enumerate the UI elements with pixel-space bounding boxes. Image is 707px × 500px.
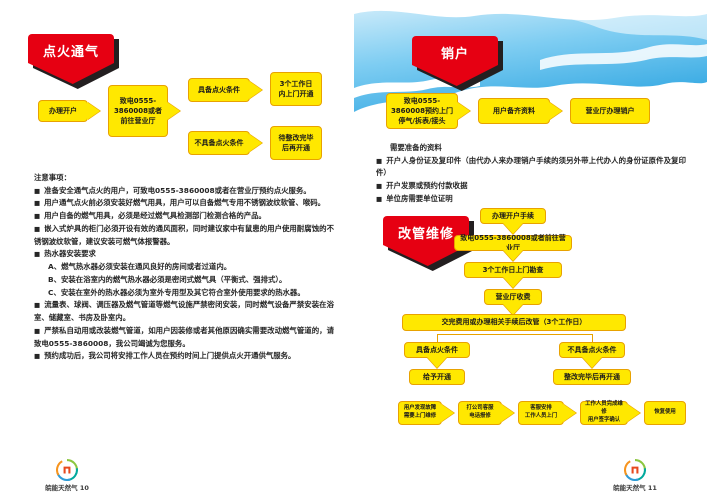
company-logo-icon (624, 459, 646, 481)
note-item: 准备安全通气点火的用户，可致电0555-3860008或者在营业厅预约点火服务。 (34, 185, 334, 198)
service-flow-step: 恢复使用 (644, 401, 686, 425)
flow-box-branch-no: 不具备点火条件 (188, 131, 250, 155)
note-item: 用户通气点火前必须安装好燃气用具，用户可以自备燃气专用不锈钢波纹软管、喉码。 (34, 197, 334, 210)
footer-caption-left: 皖能天然气 10 (45, 482, 89, 492)
material-item: 开户人身份证及复印件（由代办人来办理销户手续的须另外带上代办人的身份证原件及复印… (376, 155, 686, 180)
notes-title: 注意事项： (34, 172, 334, 185)
repair-flow-yes: 具备点火条件 (404, 342, 470, 358)
banner-cancel-label: 销户 (412, 43, 498, 62)
heater-item: C、安装在室外的热水器必须为室外专用型及其它符合室外使用要求的热水器。 (48, 287, 334, 300)
repair-flow-s1: 办理开户手续 (480, 208, 546, 224)
note-item: 嵌入式炉具的柜门必须开设有效的通风面积，同时建议家中有鼠患的用户使用耐腐蚀的不锈… (34, 223, 334, 248)
flow-connector-horizontal (437, 334, 593, 335)
footer-left: 皖能天然气 10 (32, 459, 102, 492)
note-item: 用户自备的燃气用具，必须是经过燃气具检测部门检测合格的产品。 (34, 210, 334, 223)
material-item: 开户发票或预约付款收据 (376, 180, 686, 193)
service-flow-step: 打公司客服 电话报修 (458, 401, 502, 425)
heater-item: B、安装在浴室内的燃气热水器必须是密闭式燃气具（平衡式、强排式）。 (48, 274, 334, 287)
repair-flow-s4: 营业厅收费 (484, 289, 542, 305)
flow-connector-right (592, 334, 593, 342)
flow-connector-left (437, 334, 438, 342)
cancel-flow-step2: 用户备齐资料 (478, 98, 550, 124)
repair-flow-no-result: 整改完毕后再开通 (553, 369, 631, 385)
company-logo-icon (56, 459, 78, 481)
banner-ignite-label: 点火通气 (28, 41, 114, 60)
materials-block: 需要准备的资料 开户人身份证及复印件（由代办人来办理销户手续的须另外带上代办人的… (376, 142, 686, 206)
repair-flow-no: 不具备点火条件 (559, 342, 625, 358)
banner-cancel: 销户 (412, 36, 498, 86)
brochure-spread: 点火通气 办理开户 致电0555- 3860008或者 前往营业厅 具备点火条件… (0, 0, 707, 500)
materials-title: 需要准备的资料 (390, 142, 686, 155)
flow-box-branch-yes-result: 3个工作日 内上门开通 (270, 72, 322, 106)
flow-box-branch-no-result: 待整改完毕 后再开通 (270, 126, 322, 160)
heater-item: A、燃气热水器必须安装在通风良好的房间或者过道内。 (48, 261, 334, 274)
service-flow-step: 用户发现故障 需要上门维修 (398, 401, 442, 425)
repair-flow-s2: 致电0555-3860008或者前往营业厅 (454, 235, 572, 251)
notes-block: 注意事项： 准备安全通气点火的用户，可致电0555-3860008或者在营业厅预… (34, 172, 334, 363)
banner-ignite: 点火通气 (28, 34, 114, 84)
footer-caption-right: 皖能天然气 11 (613, 482, 657, 492)
cancel-flow-step1: 致电0555- 3860008预约上门 停气/拆表/接头 (386, 93, 458, 129)
repair-flow-yes-result: 给予开通 (409, 369, 465, 385)
note-item: 预约成功后，我公司将安排工作人员在预约时间上门提供点火开通供气服务。 (34, 350, 334, 363)
note-item: 严禁私自动用或改装燃气管道，如用户因装修或者其他原因确实需要改动燃气管道的，请致… (34, 325, 334, 350)
flow-box-start: 办理开户 (38, 100, 88, 122)
repair-flow-s3: 3个工作日上门勘查 (464, 262, 562, 278)
note-item: 热水器安装要求 (34, 248, 334, 261)
cancel-flow-step3: 营业厅办理销户 (570, 98, 650, 124)
material-item: 单位房需要单位证明 (376, 193, 686, 206)
service-flow-step: 客服安排 工作人员上门 (518, 401, 564, 425)
left-page: 点火通气 办理开户 致电0555- 3860008或者 前往营业厅 具备点火条件… (0, 0, 354, 500)
repair-flow-s5: 交完费用或办理相关手续后改管（3个工作日） (402, 314, 626, 331)
flow-box-branch-yes: 具备点火条件 (188, 78, 250, 102)
note-item: 流量表、球阀、调压器及燃气管道等燃气设施严禁密闭安装，同时燃气设备严禁安装在浴室… (34, 299, 334, 324)
service-flow-step: 工作人员完成维修 用户签字确认 (580, 401, 628, 425)
right-page: 销户 致电0555- 3860008预约上门 停气/拆表/接头 用户备齐资料 营… (354, 0, 707, 500)
flow-box-contact: 致电0555- 3860008或者 前往营业厅 (108, 85, 168, 137)
footer-right: 皖能天然气 11 (600, 459, 670, 492)
